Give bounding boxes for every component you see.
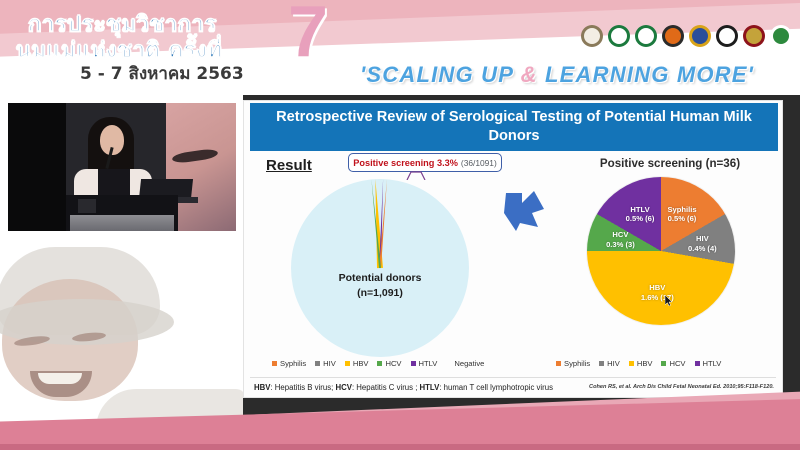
conference-tagline: 'SCALING UP & LEARNING MORE' bbox=[360, 62, 754, 88]
logo-institute-red-inner bbox=[746, 28, 762, 44]
legend-label-syphilis: Syphilis bbox=[280, 359, 306, 368]
logo-thaihealth-sss bbox=[770, 25, 792, 47]
legend-swatch-hcv bbox=[661, 361, 666, 366]
footnote-hcv-key: HCV bbox=[335, 383, 351, 392]
screen-root: 7 การประชุมวิชาการ นมแม่แห่งชาติ ครั้งที… bbox=[0, 0, 800, 450]
tagline-part1: 'SCALING UP bbox=[360, 62, 521, 87]
potential-donors-pie-body bbox=[291, 179, 469, 357]
legend-item-syphilis: Syphilis bbox=[272, 359, 306, 368]
logo-institute-red bbox=[743, 25, 765, 47]
footer-bottom-stripe bbox=[0, 444, 800, 450]
logo-royal-emblem bbox=[581, 25, 603, 47]
tagline-ampersand: & bbox=[521, 62, 538, 87]
speaker-video-thumbnail[interactable] bbox=[8, 103, 236, 231]
legend-potential-donors: SyphilisHIVHBVHCVHTLVNegative bbox=[272, 359, 484, 368]
presentation-slide[interactable]: Retrospective Review of Serological Test… bbox=[243, 100, 783, 398]
conference-banner: 7 การประชุมวิชาการ นมแม่แห่งชาติ ครั้งที… bbox=[0, 0, 800, 95]
positive-screening-pie-body: Syphilis0.5% (6) HIV0.4% (4) HBV1.6% (17… bbox=[587, 177, 735, 325]
footnote-htlv-value: : human T cell lymphotropic virus bbox=[439, 383, 553, 392]
legend-label-syphilis: Syphilis bbox=[564, 359, 590, 368]
positive-screening-callout: Positive screening 3.3% (36/1091) bbox=[348, 153, 502, 172]
legend-swatch-syphilis bbox=[272, 361, 277, 366]
logo-university-black bbox=[716, 25, 738, 47]
potential-donors-caption: Potential donors (n=1,091) bbox=[291, 271, 469, 301]
slide-footnote: HBV: Hepatitis B virus; HCV: Hepatitis C… bbox=[254, 383, 553, 392]
legend-positive-screening: SyphilisHIVHBVHCVHTLV bbox=[556, 359, 721, 368]
positive-screening-pie-chart: Syphilis0.5% (6) HIV0.4% (4) HBV1.6% (17… bbox=[587, 177, 735, 325]
legend-item-hcv: HCV bbox=[377, 359, 401, 368]
legend-swatch-hiv bbox=[599, 361, 604, 366]
slide-citation: Cohen RS, et al. Arch Dis Child Fetal Ne… bbox=[589, 384, 774, 390]
video-stage-panel bbox=[8, 103, 66, 231]
legend-label-hbv: HBV bbox=[353, 359, 369, 368]
legend-swatch-hiv bbox=[315, 361, 320, 366]
logo-crown-orange-inner bbox=[665, 28, 681, 44]
logo-department-health-green bbox=[635, 25, 657, 47]
legend-item-htlv: HTLV bbox=[411, 359, 438, 368]
podium-base bbox=[70, 215, 174, 231]
conference-date: 5 - 7 สิงหาคม 2563 bbox=[80, 60, 244, 87]
logo-department-health-green-inner bbox=[638, 28, 654, 44]
legend-label-hiv: HIV bbox=[607, 359, 620, 368]
result-heading: Result bbox=[266, 157, 312, 174]
callout-highlight-text: Positive screening 3.3% bbox=[353, 158, 458, 168]
tagline-part2: LEARNING MORE' bbox=[538, 62, 754, 87]
left-media-column bbox=[0, 95, 243, 450]
potential-donors-pie-chart: Potential donors (n=1,091) bbox=[291, 179, 469, 357]
legend-swatch-negative bbox=[446, 361, 451, 366]
legend-item-hcv: HCV bbox=[661, 359, 685, 368]
legend-item-hbv: HBV bbox=[345, 359, 369, 368]
legend-swatch-syphilis bbox=[556, 361, 561, 366]
footnote-hbv-key: HBV bbox=[254, 383, 270, 392]
legend-label-htlv: HTLV bbox=[419, 359, 438, 368]
footnote-hbv-value: : Hepatitis B virus; bbox=[270, 383, 335, 392]
logo-university-black-inner bbox=[719, 28, 735, 44]
legend-item-syphilis: Syphilis bbox=[556, 359, 590, 368]
legend-label-negative: Negative bbox=[454, 359, 484, 368]
footnote-htlv-key: HTLV bbox=[420, 383, 440, 392]
legend-item-hbv: HBV bbox=[629, 359, 653, 368]
podium-plate bbox=[78, 199, 96, 213]
potential-donors-subtitle: (n=1,091) bbox=[291, 286, 469, 301]
legend-label-hcv: HCV bbox=[669, 359, 685, 368]
potential-donors-title: Potential donors bbox=[291, 271, 469, 286]
legend-label-htlv: HTLV bbox=[703, 359, 722, 368]
legend-label-hbv: HBV bbox=[637, 359, 653, 368]
logo-ministry-health-green bbox=[608, 25, 630, 47]
footnote-hcv-value: : Hepatitis C virus ; bbox=[352, 383, 420, 392]
slide-footnote-divider bbox=[250, 377, 776, 378]
logo-crown-orange bbox=[662, 25, 684, 47]
legend-swatch-htlv bbox=[411, 361, 416, 366]
legend-item-hiv: HIV bbox=[315, 359, 336, 368]
logo-royal-emblem-inner bbox=[584, 28, 600, 44]
positive-screening-pie-title: Positive screening (n=36) bbox=[562, 157, 778, 170]
slide-title: Retrospective Review of Serological Test… bbox=[250, 103, 778, 151]
flow-arrow-icon bbox=[502, 187, 548, 231]
callout-detail-text: (36/1091) bbox=[461, 158, 497, 168]
legend-swatch-hbv bbox=[629, 361, 634, 366]
legend-swatch-hbv bbox=[345, 361, 350, 366]
logo-garuda-yellow-inner bbox=[692, 28, 708, 44]
pie-label-htlv: HTLV0.5% (6) bbox=[626, 205, 655, 225]
pie-label-hiv: HIV0.4% (4) bbox=[688, 234, 717, 254]
legend-swatch-hcv bbox=[377, 361, 382, 366]
baby-teeth bbox=[38, 373, 82, 384]
legend-swatch-htlv bbox=[695, 361, 700, 366]
logo-garuda-yellow bbox=[689, 25, 711, 47]
logo-ministry-health-green-inner bbox=[611, 28, 627, 44]
logo-thaihealth-sss-inner bbox=[773, 28, 789, 44]
mouse-cursor-icon bbox=[665, 295, 673, 306]
pie-label-syphilis: Syphilis0.5% (6) bbox=[667, 205, 696, 225]
conference-edition-number: 7 bbox=[288, 0, 328, 68]
legend-label-hiv: HIV bbox=[323, 359, 336, 368]
legend-item-negative: Negative bbox=[446, 359, 484, 368]
sponsor-logo-row bbox=[581, 25, 792, 47]
legend-label-hcv: HCV bbox=[385, 359, 401, 368]
legend-item-hiv: HIV bbox=[599, 359, 620, 368]
legend-item-htlv: HTLV bbox=[695, 359, 722, 368]
pie-label-hcv: HCV0.3% (3) bbox=[606, 230, 635, 250]
